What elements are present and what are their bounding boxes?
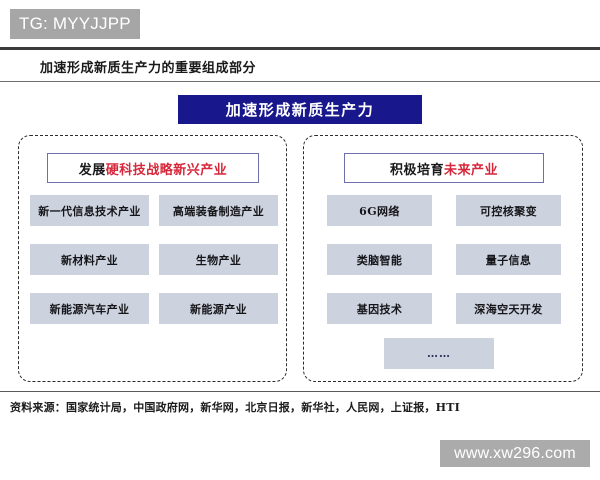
panel-right-header: 积极培育未来产业 bbox=[344, 153, 544, 183]
list-item[interactable]: 基因技术 bbox=[327, 293, 432, 324]
list-item[interactable]: 新材料产业 bbox=[30, 244, 149, 275]
list-item[interactable]: 新一代信息技术产业 bbox=[30, 195, 149, 226]
banner-title: 加速形成新质生产力 bbox=[178, 95, 422, 124]
top-divider bbox=[0, 47, 600, 50]
list-item[interactable]: 深海空天开发 bbox=[456, 293, 561, 324]
list-item[interactable]: 生物产业 bbox=[159, 244, 278, 275]
list-item[interactable]: 新能源汽车产业 bbox=[30, 293, 149, 324]
list-item[interactable]: 6G网络 bbox=[327, 195, 432, 226]
list-item-ellipsis: …… bbox=[384, 338, 494, 369]
panel-left-header: 发展硬科技战略新兴产业 bbox=[47, 153, 259, 183]
list-item[interactable]: 新能源产业 bbox=[159, 293, 278, 324]
panel-strategic-emerging-industries: 发展硬科技战略新兴产业 新一代信息技术产业 高端装备制造产业 新材料产业 生物产… bbox=[18, 135, 287, 382]
heading-divider bbox=[0, 81, 600, 82]
panel-future-industries: 积极培育未来产业 6G网络 可控核聚变 类脑智能 量子信息 基因技术 深海空天开… bbox=[303, 135, 583, 382]
panel-right-header-prefix: 积极培育 bbox=[390, 159, 444, 178]
source-note: 资料来源：国家统计局，中国政府网，新华网，北京日报，新华社，人民网，上证报，HT… bbox=[10, 399, 460, 415]
panel-right-header-highlight: 未来产业 bbox=[444, 159, 498, 178]
panel-left-header-prefix: 发展 bbox=[79, 159, 106, 178]
tg-tag-watermark: TG: MYYJJPP bbox=[10, 9, 140, 39]
footer-divider bbox=[0, 391, 600, 392]
page-title: 加速形成新质生产力的重要组成部分 bbox=[40, 57, 256, 76]
list-item[interactable]: 类脑智能 bbox=[327, 244, 432, 275]
list-item[interactable]: 量子信息 bbox=[456, 244, 561, 275]
list-item[interactable]: 高端装备制造产业 bbox=[159, 195, 278, 226]
site-watermark: www.xw296.com bbox=[440, 440, 590, 467]
panel-left-header-highlight: 硬科技战略新兴产业 bbox=[106, 159, 228, 178]
list-item[interactable]: 可控核聚变 bbox=[456, 195, 561, 226]
